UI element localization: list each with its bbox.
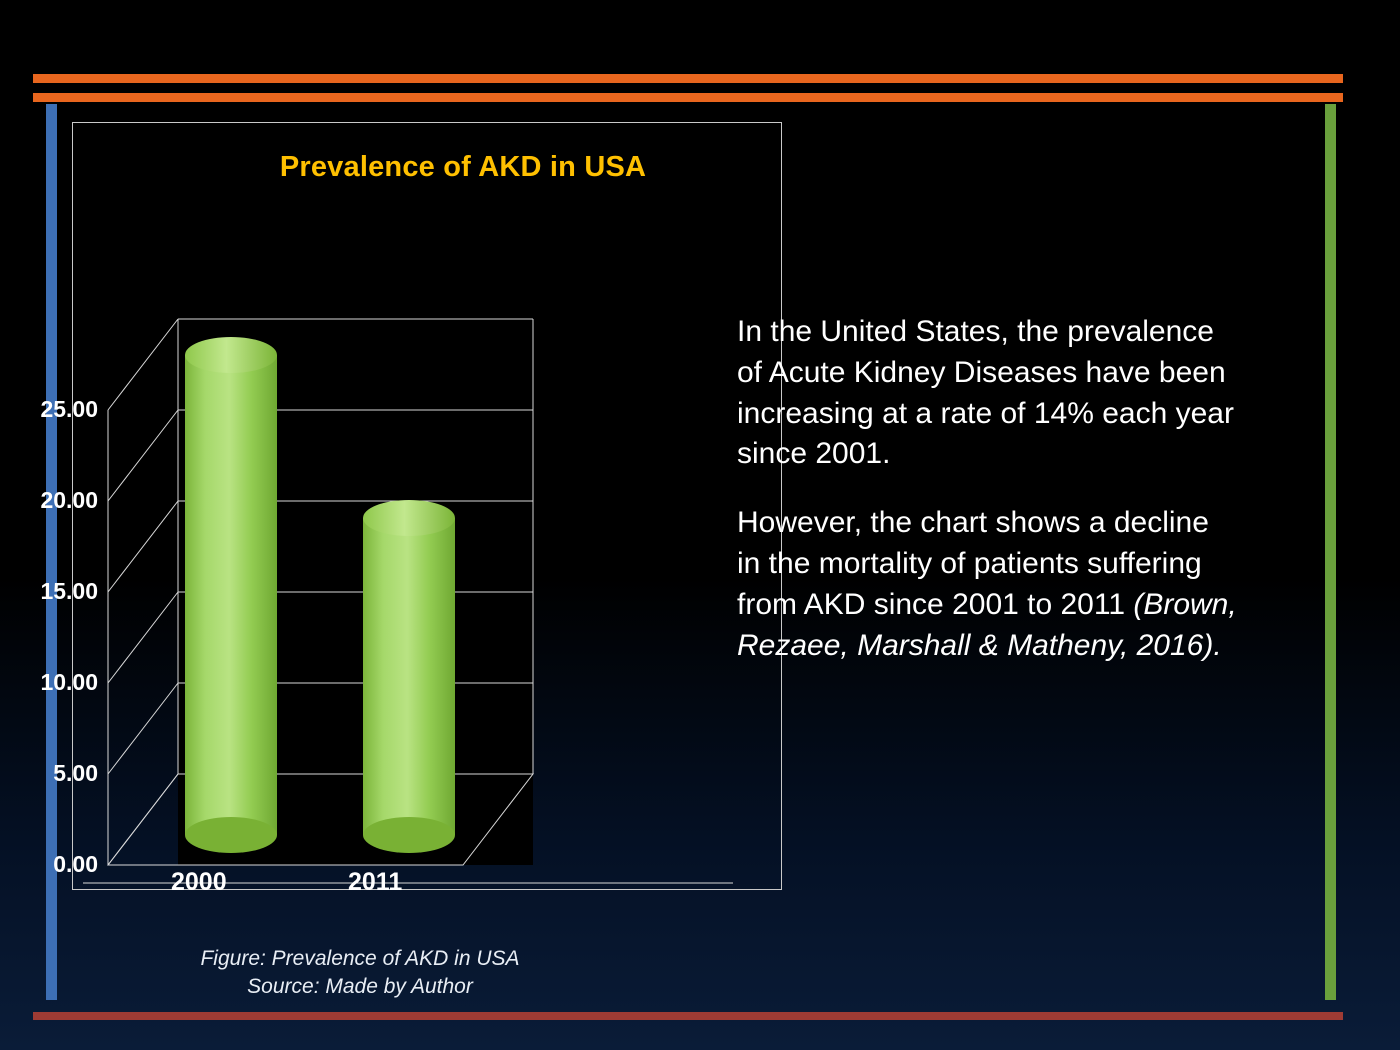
figure-caption-line-1: Figure: Prevalence of AKD in USA: [120, 945, 600, 973]
decor-bar-left-blue: [46, 104, 57, 1000]
decor-bar-top-orange-1: [33, 74, 1343, 83]
body-text-block: In the United States, the prevalence of …: [737, 312, 1237, 694]
body-paragraph-2: However, the chart shows a decline in th…: [737, 503, 1237, 666]
body-paragraph-1: In the United States, the prevalence of …: [737, 312, 1237, 475]
decor-bar-right-green: [1325, 104, 1336, 1000]
figure-caption-line-2: Source: Made by Author: [120, 973, 600, 1001]
bar-2011: [363, 500, 455, 853]
x-tick-2000: 2000: [171, 868, 227, 897]
decor-bar-top-orange-2: [33, 93, 1343, 102]
bar-2000: [185, 337, 277, 853]
decor-bar-bottom-red: [33, 1012, 1343, 1020]
figure-caption: Figure: Prevalence of AKD in USA Source:…: [120, 945, 600, 1002]
chart-plot-area: [73, 123, 783, 891]
slide-root: Prevalence of AKD in USA: [0, 0, 1400, 1050]
chart-frame: Prevalence of AKD in USA: [72, 122, 782, 890]
x-tick-2011: 2011: [348, 868, 402, 897]
